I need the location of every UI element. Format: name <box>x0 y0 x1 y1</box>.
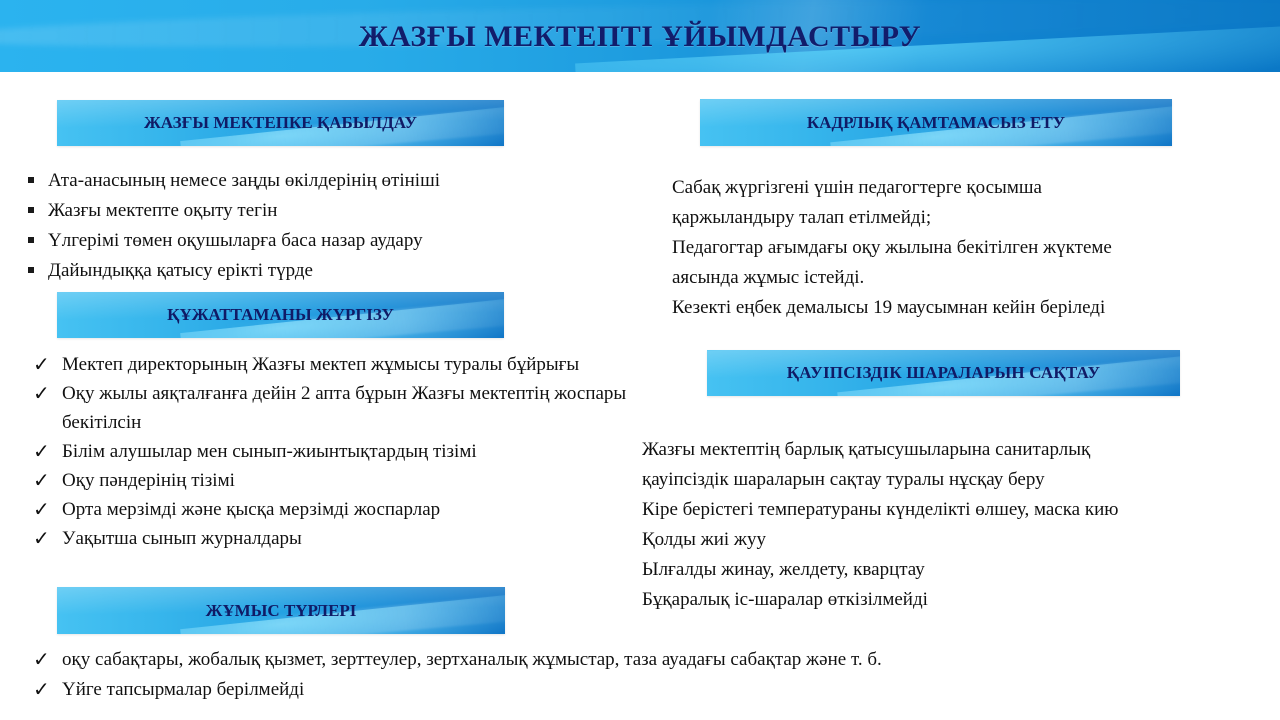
section-header-staffing-label: КАДРЛЫҚ ҚАМТАМАСЫЗ ЕТУ <box>700 99 1172 146</box>
square-bullet-icon <box>28 207 34 213</box>
check-mark-icon: ✓ <box>33 436 50 466</box>
list-item: ✓ Орта мерзімді және қысқа мерзімді жосп… <box>26 495 646 524</box>
section-body-work-types: ✓ оқу сабақтары, жобалық қызмет, зерттеу… <box>26 645 1256 705</box>
text-line: Сабақ жүргізгені үшін педагогтерге қосым… <box>672 173 1272 203</box>
list-item-text: Үйге тапсырмалар берілмейді <box>62 679 304 700</box>
check-mark-icon: ✓ <box>33 494 50 524</box>
list-item-text: Дайындыққа қатысу ерікті түрде <box>48 260 313 281</box>
list-item-text: Оқу пәндерінің тізімі <box>62 470 235 491</box>
square-bullet-icon <box>28 237 34 243</box>
section-header-documentation-label: ҚҰЖАТТАМАНЫ ЖҮРГІЗУ <box>57 292 504 338</box>
list-item-text: Мектеп директорының Жазғы мектеп жұмысы … <box>62 354 579 375</box>
list-item-text: Білім алушылар мен сынып-жиынтықтардың т… <box>62 441 477 462</box>
documentation-list: ✓ Мектеп директорының Жазғы мектеп жұмыс… <box>26 350 646 553</box>
text-line: Бұқаралық іс-шаралар өткізілмейді <box>642 585 1272 615</box>
check-mark-icon: ✓ <box>33 378 50 408</box>
section-header-work-types: ЖҰМЫС ТҮРЛЕРІ <box>57 587 505 634</box>
section-header-work-types-label: ЖҰМЫС ТҮРЛЕРІ <box>57 587 505 634</box>
list-item: ✓ Оқу жылы аяқталғанға дейін 2 апта бұры… <box>26 379 646 437</box>
list-item-text: Үлгерімі төмен оқушыларға баса назар ауд… <box>48 230 423 251</box>
list-item-text: Уақытша сынып журналдары <box>62 528 302 549</box>
text-line: Қолды жиі жуу <box>642 525 1272 555</box>
list-item: Үлгерімі төмен оқушыларға баса назар ауд… <box>26 226 626 256</box>
list-item-text: Оқу жылы аяқталғанға дейін 2 апта бұрын … <box>62 383 626 433</box>
list-item: ✓ Білім алушылар мен сынып-жиынтықтардың… <box>26 437 646 466</box>
text-line: Ылғалды жинау, желдету, кварцтау <box>642 555 1272 585</box>
section-body-staffing: Сабақ жүргізгені үшін педагогтерге қосым… <box>672 173 1272 323</box>
section-header-safety-label: ҚАУІПСІЗДІК ШАРАЛАРЫН САҚТАУ <box>707 350 1180 396</box>
list-item: Дайындыққа қатысу ерікті түрде <box>26 256 626 286</box>
section-header-admission-label: ЖАЗҒЫ МЕКТЕПКЕ ҚАБЫЛДАУ <box>57 100 504 146</box>
list-item-text: Ата-анасының немесе заңды өкілдерінің өт… <box>48 170 440 191</box>
section-header-documentation: ҚҰЖАТТАМАНЫ ЖҮРГІЗУ <box>57 292 504 338</box>
square-bullet-icon <box>28 177 34 183</box>
section-header-admission: ЖАЗҒЫ МЕКТЕПКЕ ҚАБЫЛДАУ <box>57 100 504 146</box>
text-line: Педагогтар ағымдағы оқу жылына бекітілге… <box>672 233 1272 263</box>
text-line: аясында жұмыс істейді. <box>672 263 1272 293</box>
list-item-text: Жазғы мектепте оқыту тегін <box>48 200 277 221</box>
section-header-safety: ҚАУІПСІЗДІК ШАРАЛАРЫН САҚТАУ <box>707 350 1180 396</box>
check-mark-icon: ✓ <box>33 523 50 553</box>
text-line: Кіре берістегі температураны күнделікті … <box>642 495 1272 525</box>
list-item: Жазғы мектепте оқыту тегін <box>26 196 626 226</box>
page-title: ЖАЗҒЫ МЕКТЕПТІ ҰЙЫМДАСТЫРУ <box>0 20 1280 54</box>
text-line: қаржыландыру талап етілмейді; <box>672 203 1272 233</box>
square-bullet-icon <box>28 267 34 273</box>
section-body-documentation: ✓ Мектеп директорының Жазғы мектеп жұмыс… <box>26 350 646 553</box>
list-item: ✓ Мектеп директорының Жазғы мектеп жұмыс… <box>26 350 646 379</box>
work-types-list: ✓ оқу сабақтары, жобалық қызмет, зерттеу… <box>26 645 1256 705</box>
section-body-safety: Жазғы мектептің барлық қатысушыларына са… <box>642 435 1272 615</box>
slide-title-banner: ЖАЗҒЫ МЕКТЕПТІ ҰЙЫМДАСТЫРУ <box>0 0 1280 72</box>
section-body-admission: Ата-анасының немесе заңды өкілдерінің өт… <box>26 166 626 286</box>
check-mark-icon: ✓ <box>33 465 50 495</box>
list-item-text: Орта мерзімді және қысқа мерзімді жоспар… <box>62 499 440 520</box>
check-mark-icon: ✓ <box>33 674 50 704</box>
list-item: ✓ Уақытша сынып журналдары <box>26 524 646 553</box>
list-item: ✓ Үйге тапсырмалар берілмейді <box>26 675 1256 705</box>
check-mark-icon: ✓ <box>33 644 50 674</box>
list-item: ✓ Оқу пәндерінің тізімі <box>26 466 646 495</box>
text-line: Жазғы мектептің барлық қатысушыларына са… <box>642 435 1272 465</box>
text-line: қауіпсіздік шараларын сақтау туралы нұсқ… <box>642 465 1272 495</box>
section-header-staffing: КАДРЛЫҚ ҚАМТАМАСЫЗ ЕТУ <box>700 99 1172 146</box>
list-item: ✓ оқу сабақтары, жобалық қызмет, зерттеу… <box>26 645 1256 675</box>
list-item: Ата-анасының немесе заңды өкілдерінің өт… <box>26 166 626 196</box>
admission-list: Ата-анасының немесе заңды өкілдерінің өт… <box>26 166 626 286</box>
text-line: Кезекті еңбек демалысы 19 маусымнан кейі… <box>672 293 1272 323</box>
list-item-text: оқу сабақтары, жобалық қызмет, зерттеуле… <box>62 649 882 670</box>
check-mark-icon: ✓ <box>33 349 50 379</box>
